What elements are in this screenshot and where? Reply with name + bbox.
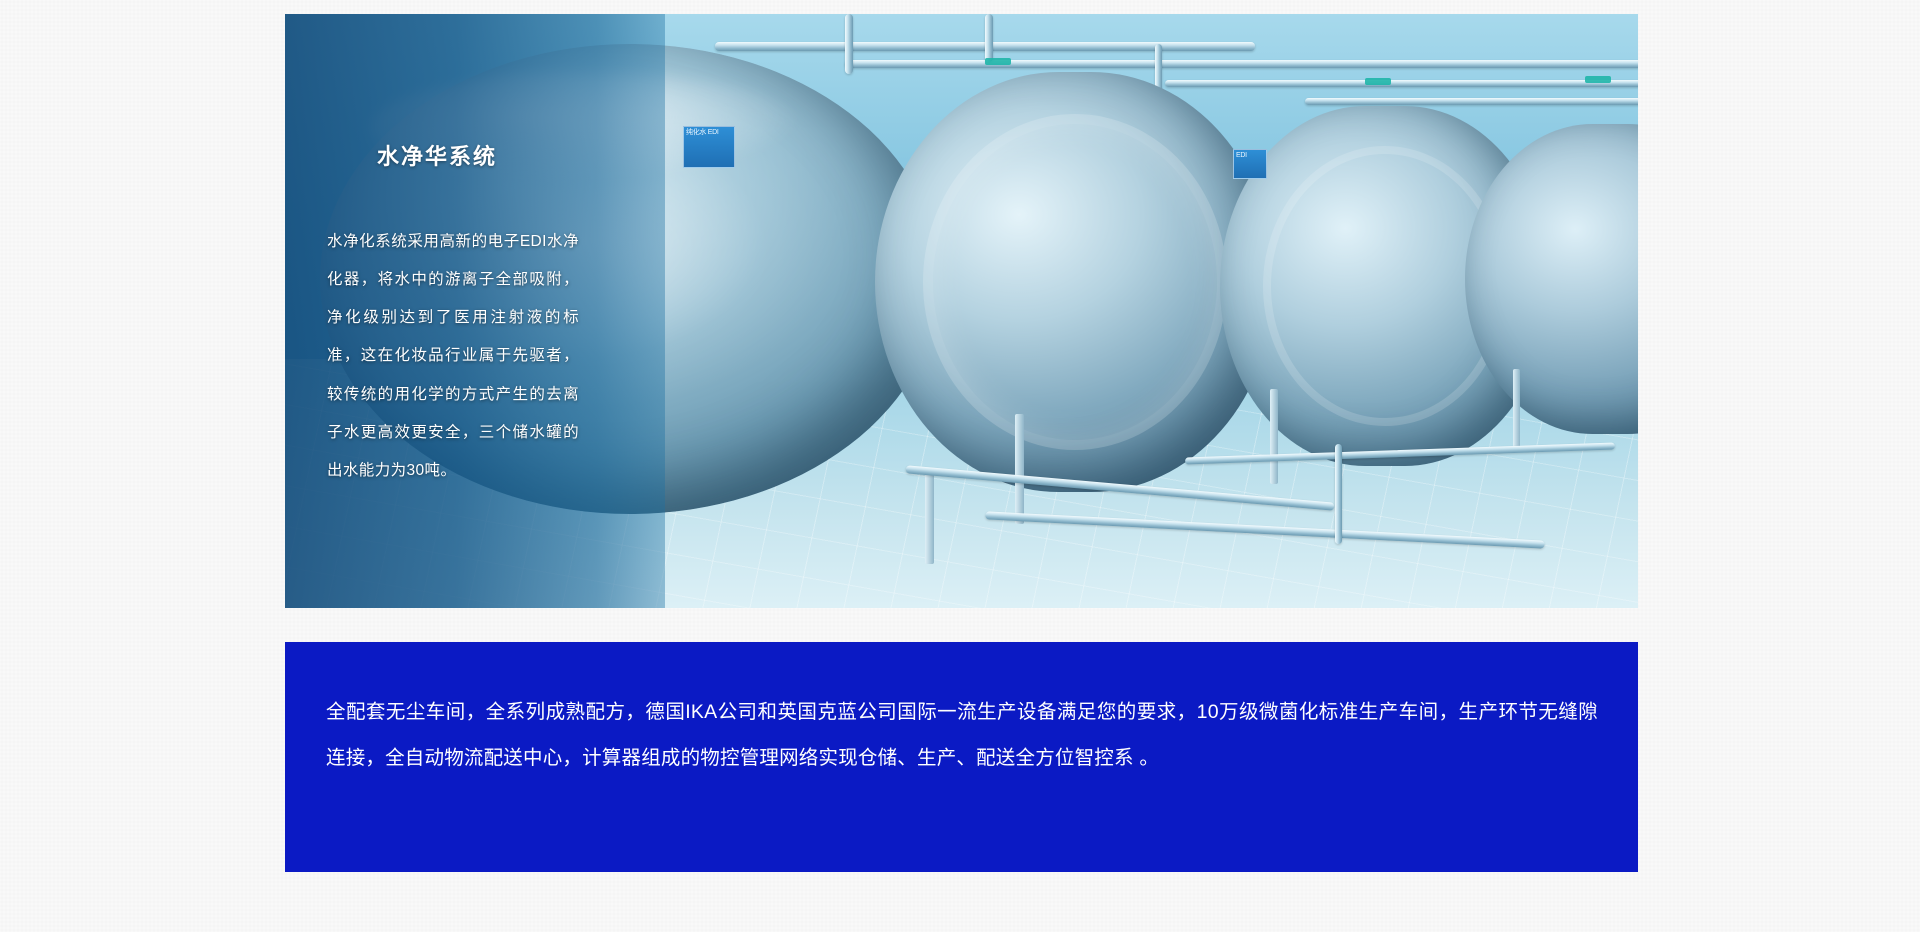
tank-support-leg: [925, 469, 934, 564]
blue-callout-panel: 全配套无尘车间，全系列成熟配方，德国IKA公司和英国克蓝公司国际一流生产设备满足…: [285, 642, 1638, 872]
pipe-marker-icon: [1585, 76, 1611, 83]
tank-label-sticker: 纯化水 EDI: [683, 126, 735, 168]
hero-image-panel: 纯化水 EDI EDI 水净华系统 水净化系统采用高新的电子EDI水净化器，将水…: [285, 14, 1638, 608]
hero-text-block: 水净华系统 水净化系统采用高新的电子EDI水净化器，将水中的游离子全部吸附，净化…: [327, 139, 627, 490]
overhead-pipe-icon: [1305, 98, 1638, 105]
callout-description: 全配套无尘车间，全系列成熟配方，德国IKA公司和英国克蓝公司国际一流生产设备满足…: [326, 690, 1598, 782]
overhead-pipe-icon: [1165, 80, 1638, 87]
vertical-pipe-icon: [845, 14, 853, 74]
tank-ring-icon: [923, 114, 1227, 450]
pipe-marker-icon: [1365, 78, 1391, 85]
overhead-pipe-icon: [845, 60, 1638, 68]
tank-support-leg: [1270, 389, 1278, 484]
floor-pipe-icon: [1335, 444, 1342, 544]
hero-description: 水净化系统采用高新的电子EDI水净化器，将水中的游离子全部吸附，净化级别达到了医…: [327, 223, 579, 490]
pipe-marker-icon: [985, 58, 1011, 65]
tank-label-sticker: EDI: [1233, 149, 1267, 179]
storage-tank-2: [875, 72, 1275, 492]
tank-support-leg: [1015, 414, 1024, 524]
tank-support-leg: [1513, 369, 1520, 449]
vertical-pipe-icon: [985, 14, 993, 62]
hero-title: 水净华系统: [377, 139, 627, 171]
